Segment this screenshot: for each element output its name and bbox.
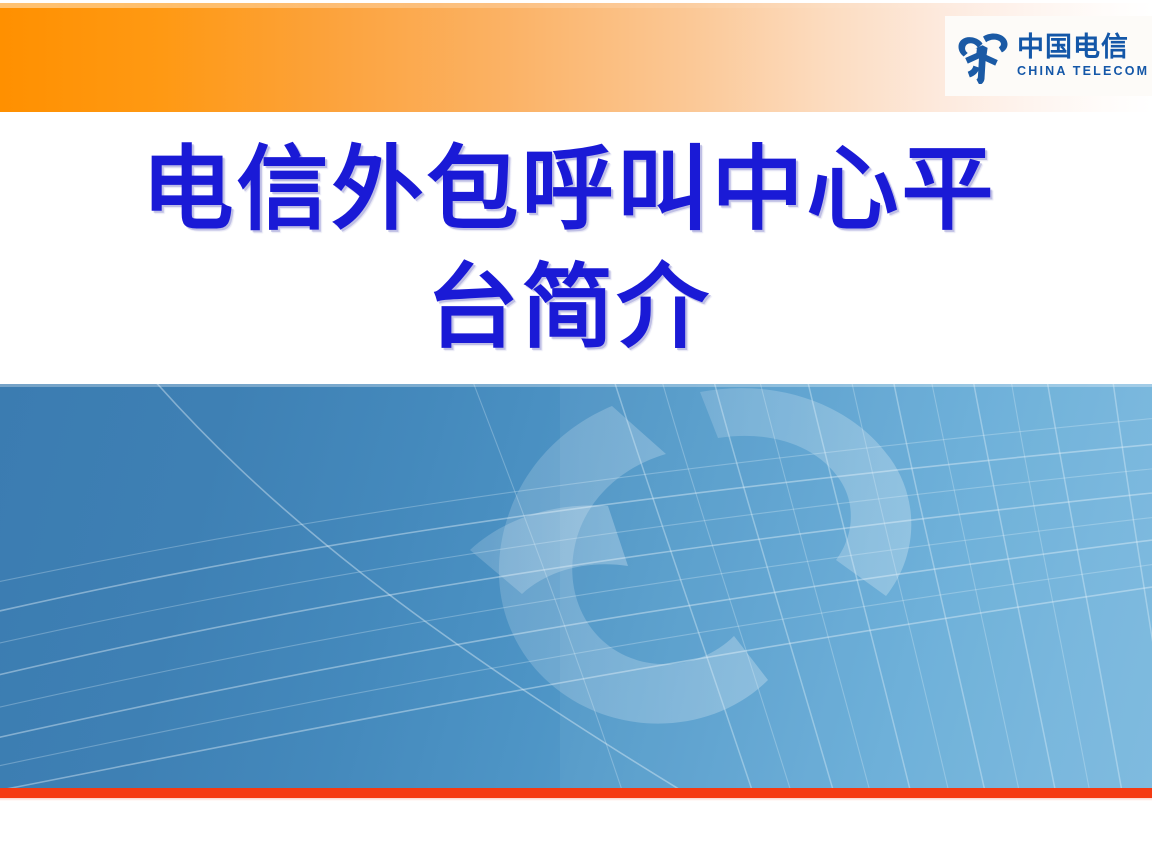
page-title-line-1: 电信外包呼叫中心平: [141, 130, 996, 248]
china-telecom-logo: 中国电信 CHINA TELECOM: [945, 16, 1152, 96]
china-telecom-swoosh-icon: [951, 28, 1013, 84]
title-area: 电信外包呼叫中心平 台简介: [0, 112, 1152, 384]
bottom-accent-rule: [0, 788, 1152, 798]
page-title-line-2: 台简介: [426, 248, 711, 366]
logo-name-en: CHINA TELECOM: [1017, 64, 1149, 79]
bottom-white-area: [0, 798, 1152, 864]
logo-name-cn: 中国电信: [1017, 33, 1149, 63]
bottom-accent-rule-shadow: [0, 798, 1152, 801]
logo-wordmark: 中国电信 CHINA TELECOM: [1017, 33, 1149, 79]
top-banner-highlight: [0, 3, 1152, 8]
panel-artwork: [0, 384, 1152, 788]
slide-canvas: 中国电信 CHINA TELECOM 电信外包呼叫中心平 台简介: [0, 0, 1152, 864]
decorative-image-panel: [0, 384, 1152, 788]
